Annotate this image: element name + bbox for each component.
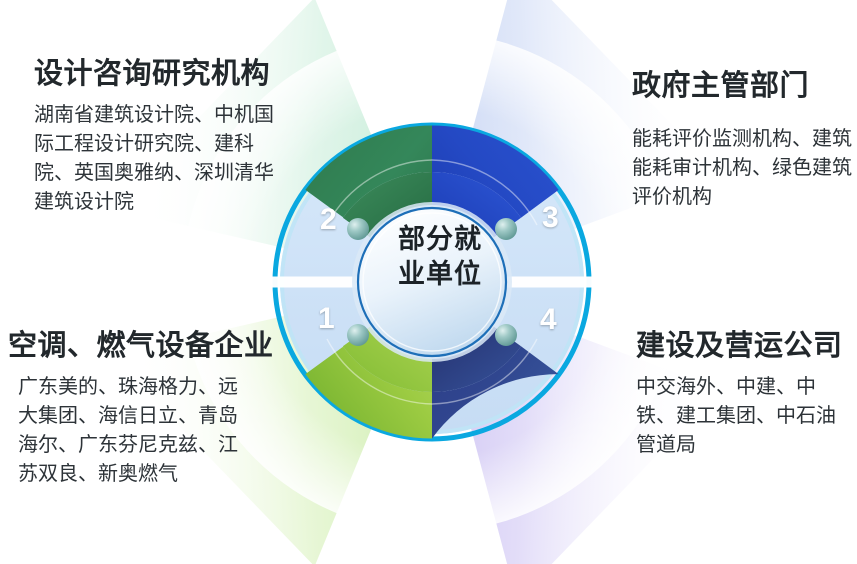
quadrant-top-right-heading: 政府主管部门 xyxy=(632,70,857,103)
quadrant-bottom-left-heading: 空调、燃气设备企业 xyxy=(8,330,308,363)
quadrant-top-right-body: 能耗评价监测机构、建筑能耗审计机构、绿色建筑评价机构 xyxy=(632,125,857,212)
quadrant-bottom-right-heading: 建设及营运公司 xyxy=(636,330,857,363)
sphere-marker-1 xyxy=(347,324,369,346)
segment-number-2: 2 xyxy=(320,205,337,235)
quadrant-bottom-left-body: 广东美的、珠海格力、远大集团、海信日立、青岛海尔、广东芬尼克兹、江苏双良、新奥燃… xyxy=(18,373,253,489)
quadrant-top-left: 设计咨询研究机构 湖南省建筑设计院、中机国际工程设计研究院、建科院、英国奥雅纳、… xyxy=(26,58,306,217)
infographic-canvas: 1 2 3 4 部分就 业单位 设计咨询研究机构 湖南省建筑设计院、中机国际工程… xyxy=(0,0,857,564)
center-label: 部分就 业单位 xyxy=(380,222,500,291)
segment-number-1: 1 xyxy=(318,304,335,334)
sphere-marker-2 xyxy=(347,218,369,240)
quadrant-bottom-right: 建设及营运公司 中交海外、中建、中铁、建工集团、中石油管道局 xyxy=(636,330,857,460)
quadrant-top-left-heading: 设计咨询研究机构 xyxy=(34,58,306,91)
quadrant-bottom-left: 空调、燃气设备企业 广东美的、珠海格力、远大集团、海信日立、青岛海尔、广东芬尼克… xyxy=(8,330,308,489)
sphere-marker-4 xyxy=(495,324,517,346)
quadrant-top-right: 政府主管部门 能耗评价监测机构、建筑能耗审计机构、绿色建筑评价机构 xyxy=(632,70,857,212)
segment-number-4: 4 xyxy=(540,305,557,335)
segment-number-3: 3 xyxy=(542,203,559,233)
quadrant-top-left-body: 湖南省建筑设计院、中机国际工程设计研究院、建科院、英国奥雅纳、深圳清华建筑设计院 xyxy=(34,101,279,217)
center-label-line1: 部分就 xyxy=(380,222,500,257)
quadrant-bottom-right-body: 中交海外、中建、中铁、建工集团、中石油管道局 xyxy=(636,373,851,460)
center-label-line2: 业单位 xyxy=(380,257,500,292)
